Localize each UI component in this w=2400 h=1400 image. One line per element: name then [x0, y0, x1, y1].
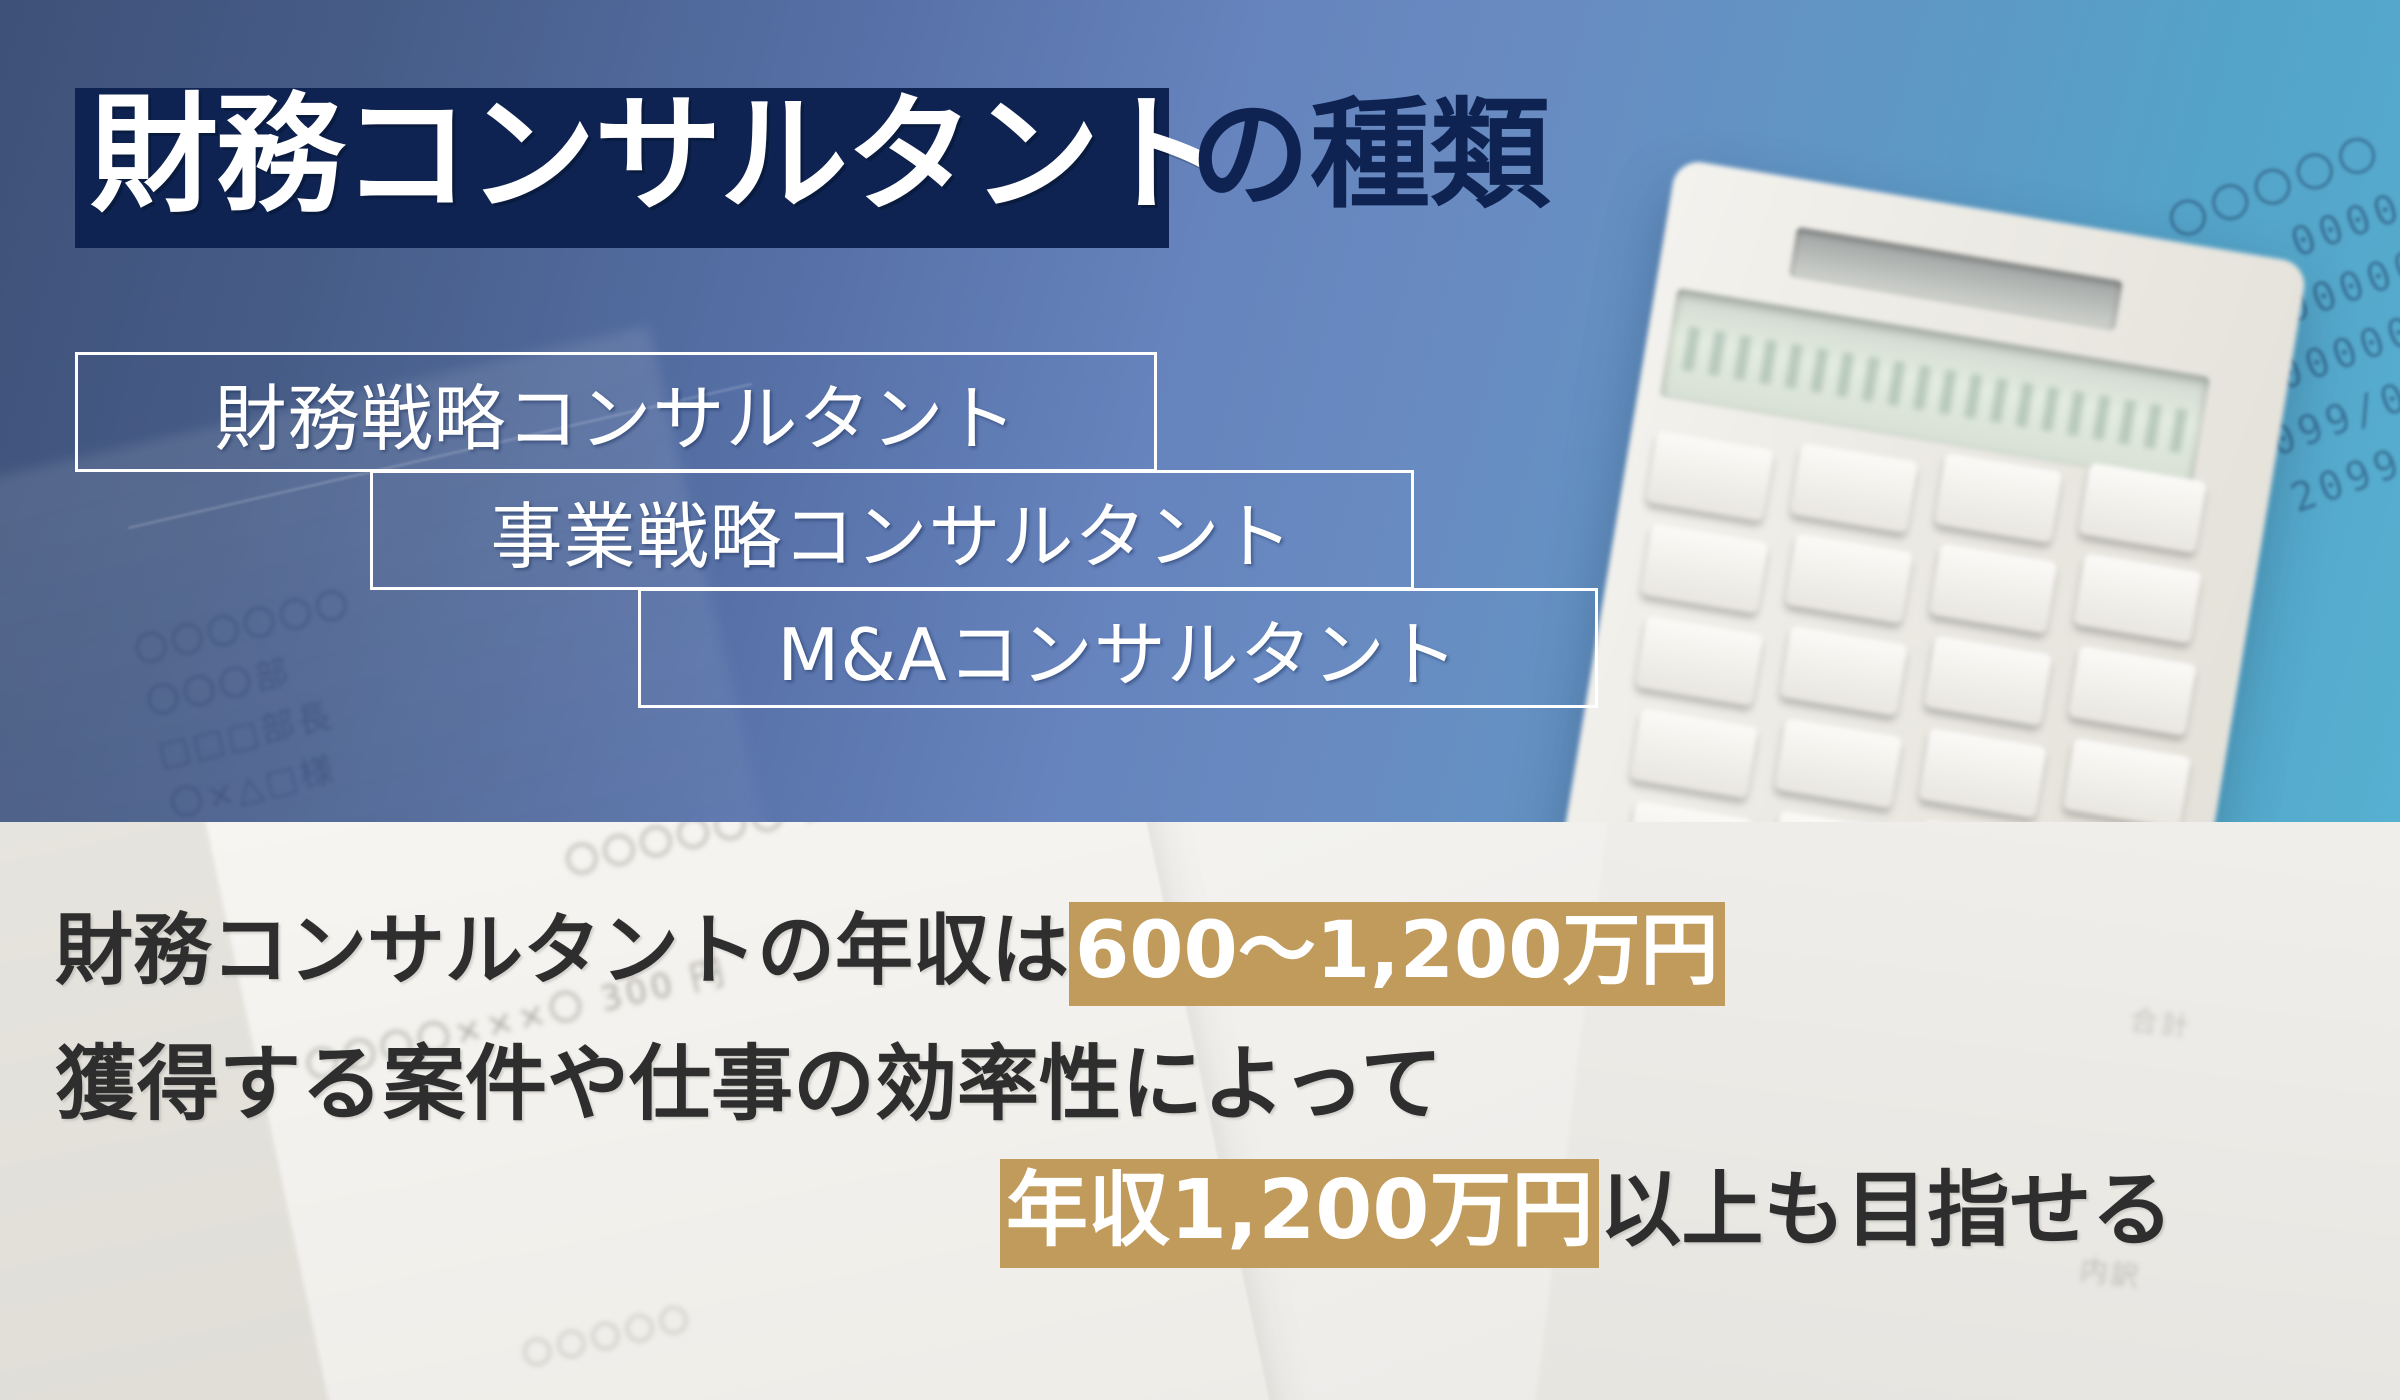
salary-target-highlight: 年収1,200万円 — [1000, 1159, 1599, 1268]
top-blue-panel: 〇〇〇〇〇〇 〇〇〇部 □□□部長 〇×△□様 〇〇〇〇〇〇 〇〇〇〇〇 000… — [0, 0, 2400, 822]
page-title: 財務コンサルタント の種類 — [0, 60, 2400, 260]
type-box-3: M&Aコンサルタント — [638, 588, 1598, 708]
salary-line-3-suffix: 以上も目指せる — [1599, 1163, 2173, 1258]
background-doc-text-5: 合計 — [2128, 998, 2194, 1045]
calculator-key — [1924, 635, 2052, 725]
calculator-key — [1785, 533, 1913, 623]
calculator-key — [1934, 453, 2062, 543]
hero-banner: 〇〇〇〇〇〇 〇〇〇部 □□□部長 〇×△□様 〇〇〇〇〇〇 〇〇〇〇〇 000… — [0, 0, 2400, 1400]
bottom-panel: 〇〇〇〇〇〇 課案の件 〇〇〇〇×××〇 300 円 〇〇〇〇〇 内訳 合計 財… — [0, 822, 2400, 1400]
type-box-1-label: 財務戦略コンサルタント — [214, 360, 1017, 465]
calculator-key — [1790, 443, 1918, 533]
calculator-key — [1635, 616, 1763, 706]
calculator-key — [1774, 718, 1902, 808]
calculator-key — [2074, 553, 2202, 643]
title-suffix-text: の種類 — [1190, 96, 1550, 216]
calculator-key — [1646, 431, 1774, 521]
type-box-2: 事業戦略コンサルタント — [370, 470, 1414, 590]
salary-line-3: 年収1,200万円以上も目指せる — [1000, 1170, 2173, 1252]
type-box-3-label: M&Aコンサルタント — [777, 596, 1459, 701]
type-box-1: 財務戦略コンサルタント — [75, 352, 1157, 472]
calculator-key — [1630, 708, 1758, 798]
title-main-text: 財務コンサルタント — [90, 92, 1224, 220]
calculator-keypad — [1557, 426, 2244, 822]
salary-line-1: 財務コンサルタントの年収は600〜1,200万円 — [55, 912, 1725, 990]
calculator-key — [2068, 645, 2196, 735]
calculator-key — [1769, 810, 1897, 822]
salary-line-2: 獲得する案件や仕事の効率性によって — [55, 1044, 1442, 1126]
calculator-key — [1780, 626, 1908, 716]
calculator-key — [1919, 728, 2047, 818]
type-box-2-label: 事業戦略コンサルタント — [490, 478, 1293, 583]
calculator-key — [1641, 523, 1769, 613]
calculator-key — [1929, 543, 2057, 633]
salary-range-highlight: 600〜1,200万円 — [1069, 902, 1725, 1006]
calculator-key — [1625, 800, 1753, 822]
salary-line-1-prefix: 財務コンサルタントの年収は — [55, 906, 1069, 996]
calculator-key — [2063, 738, 2191, 822]
